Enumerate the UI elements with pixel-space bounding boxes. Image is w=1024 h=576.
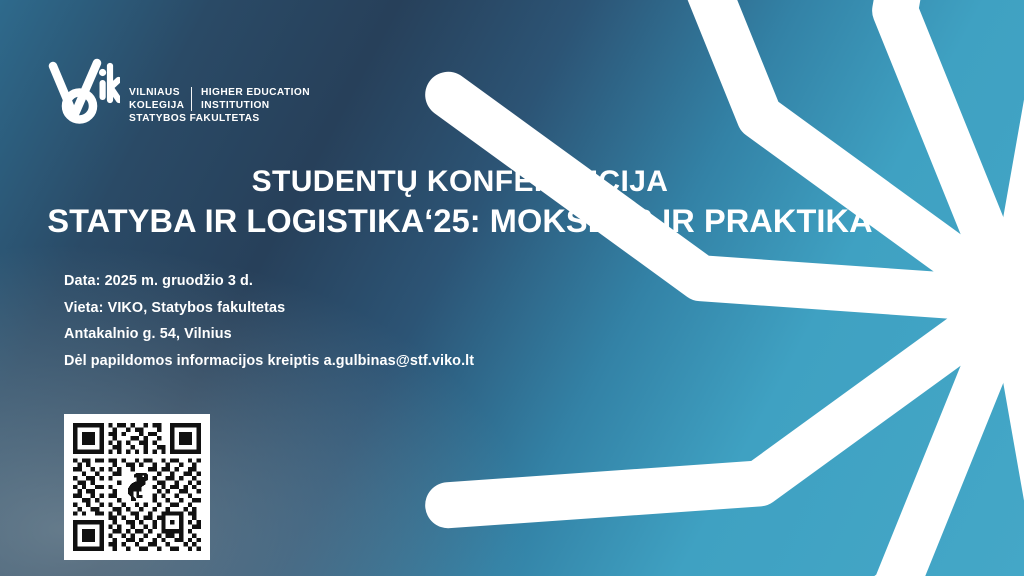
qr-code[interactable] — [64, 414, 210, 560]
detail-venue: Vieta: VIKO, Statybos fakultetas — [64, 295, 474, 322]
conference-title: STATYBA IR LOGISTIKA‘25: MOKSLAS IR PRAK… — [0, 201, 920, 241]
viko-logo: VILNIAUS KOLEGIJA HIGHER EDUCATION INSTI… — [48, 58, 310, 128]
logo-line-higher-education: HIGHER EDUCATION — [201, 86, 310, 99]
detail-date: Data: 2025 m. gruodžio 3 d. — [64, 268, 474, 295]
logo-divider — [191, 87, 192, 111]
logo-line-faculty: STATYBOS FAKULTETAS — [129, 112, 310, 125]
viko-logo-icon — [48, 58, 120, 128]
conference-details: Data: 2025 m. gruodžio 3 d. Vieta: VIKO,… — [64, 268, 474, 374]
detail-address: Antakalnio g. 54, Vilnius — [64, 321, 474, 348]
detail-contact: Dėl papildomos informacijos kreiptis a.g… — [64, 348, 474, 375]
logo-line-vilniaus: VILNIAUS — [129, 86, 191, 99]
conference-subtitle: STUDENTŲ KONFERENCIJA — [0, 163, 920, 201]
conference-title-block: STUDENTŲ KONFERENCIJA STATYBA IR LOGISTI… — [0, 163, 920, 241]
logo-wordmark: VILNIAUS KOLEGIJA HIGHER EDUCATION INSTI… — [129, 86, 310, 126]
logo-line-institution: INSTITUTION — [201, 99, 310, 112]
conference-poster: VILNIAUS KOLEGIJA HIGHER EDUCATION INSTI… — [0, 0, 1024, 576]
logo-line-kolegija: KOLEGIJA — [129, 99, 191, 112]
